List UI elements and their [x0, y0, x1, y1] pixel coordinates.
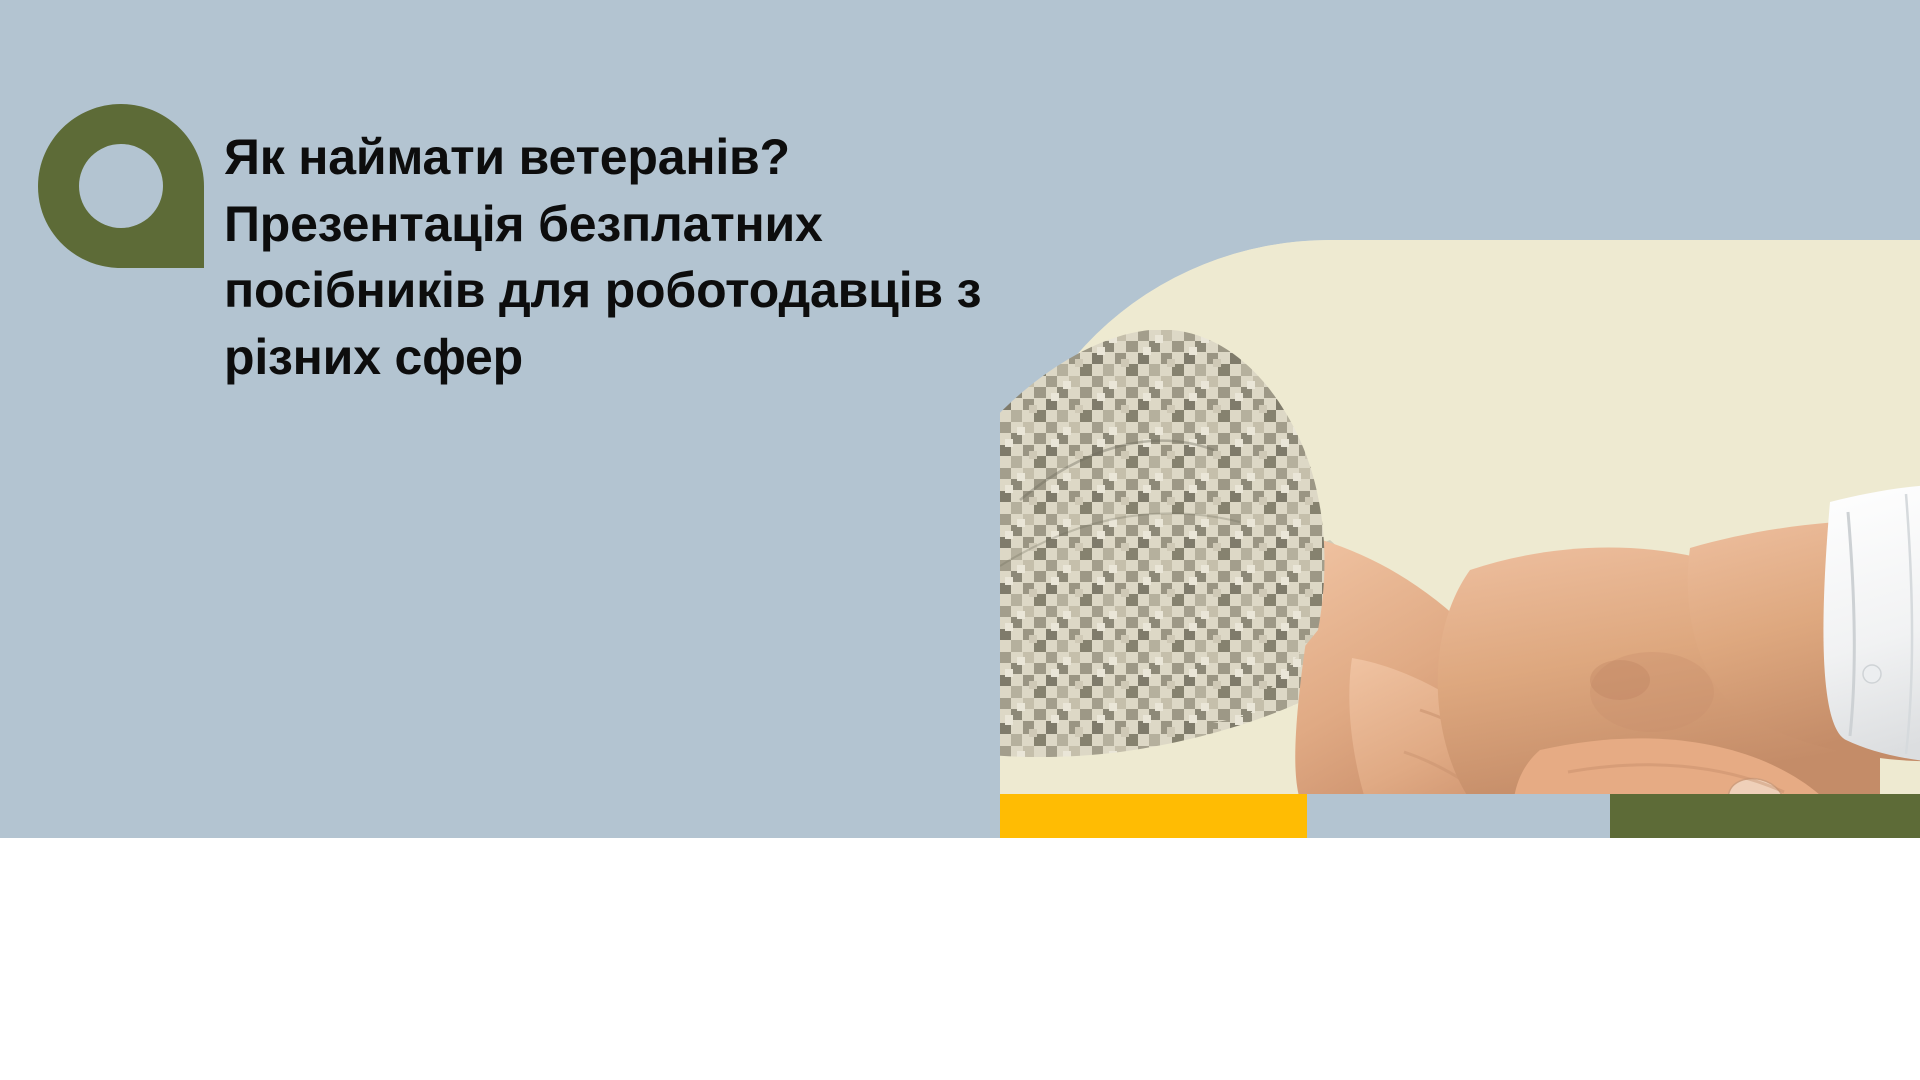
olive-pin-logo [38, 104, 204, 276]
slide-stage: Як наймати ветеранів? Презентація безпла… [0, 0, 1920, 838]
bar-yellow [1000, 794, 1307, 838]
bar-blue [1307, 794, 1610, 838]
presentation-slide: Як наймати ветеранів? Презентація безпла… [0, 0, 1920, 1080]
handshake-photo [1000, 240, 1920, 794]
bar-olive [1610, 794, 1920, 838]
accent-bars [1000, 794, 1920, 838]
partner-logos-footer: DEPARTMENT OF STATE UNITED STATES OF AME… [0, 838, 1920, 1080]
page-title: Як наймати ветеранів? Презентація безпла… [224, 124, 984, 390]
